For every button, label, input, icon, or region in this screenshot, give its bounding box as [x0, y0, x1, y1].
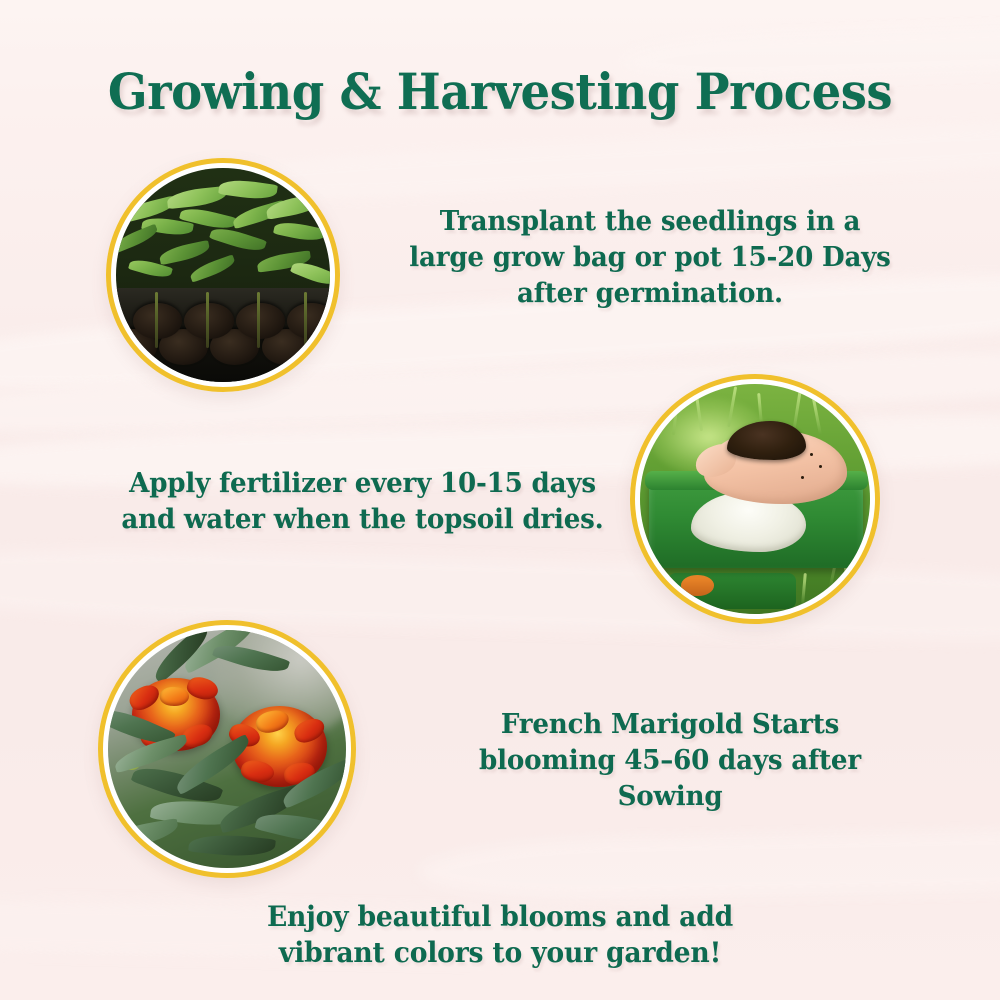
step-text-bloom: French Marigold Starts blooming 45–60 da… — [437, 707, 903, 814]
step-text-fertilizer: Apply fertilizer every 10-15 days and wa… — [113, 466, 612, 538]
step-text-transplant: Transplant the seedlings in a large grow… — [408, 204, 893, 311]
step-image-fertilizer — [630, 374, 880, 624]
closing-text: Enjoy beautiful blooms and add vibrant c… — [258, 899, 743, 972]
step-image-bloom — [98, 620, 356, 878]
gold-ring-border — [106, 158, 340, 392]
infographic-poster: Growing & Harvesting Process — [0, 0, 1000, 1000]
gold-ring-border — [630, 374, 880, 624]
step-image-transplant — [106, 158, 340, 392]
page-title: Growing & Harvesting Process — [35, 62, 965, 121]
gold-ring-border — [98, 620, 356, 878]
background-streak — [419, 828, 1000, 903]
